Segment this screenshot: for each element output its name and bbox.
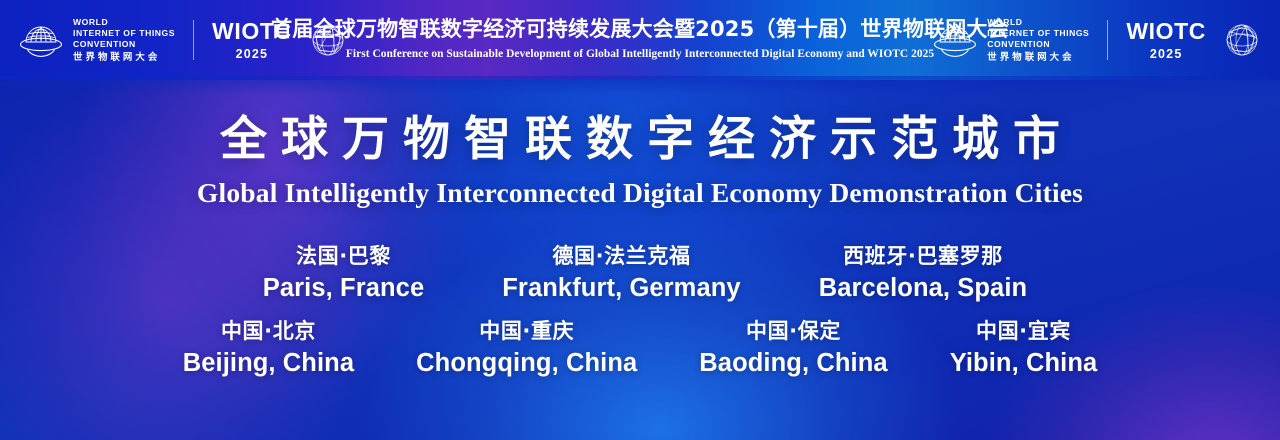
city-item: 中国·宜宾 Yibin, China [950, 318, 1098, 379]
city-name-english: Baoding, China [699, 348, 887, 379]
wordmark-left: WORLD INTERNET OF THINGS CONVENTION 世界物联… [73, 18, 175, 61]
wordmark-line-2: INTERNET OF THINGS [987, 29, 1089, 38]
wordmark-line-2: INTERNET OF THINGS [73, 29, 175, 38]
wordmark-right: WORLD INTERNET OF THINGS CONVENTION 世界物联… [987, 18, 1089, 61]
city-name-chinese: 法国·巴黎 [263, 243, 424, 269]
wordmark-line-3: CONVENTION [987, 40, 1089, 49]
city-item: 德国·法兰克福 Frankfurt, Germany [502, 243, 740, 304]
headline-chinese: 全球万物智联数字经济示范城市 [0, 112, 1280, 168]
city-item: 法国·巴黎 Paris, France [263, 243, 424, 304]
city-name-chinese: 中国·北京 [183, 318, 354, 344]
city-row-china: 中国·北京 Beijing, China 中国·重庆 Chongqing, Ch… [0, 318, 1280, 379]
wordmark-line-1: WORLD [987, 18, 1089, 27]
wordmark-line-3: CONVENTION [73, 40, 175, 49]
wiotc-text: WIOTC [1126, 20, 1206, 43]
city-name-chinese: 中国·保定 [699, 318, 887, 344]
globe-emblem-icon [932, 18, 978, 62]
city-name-english: Paris, France [263, 273, 424, 304]
wiotc-lockup-right: WIOTC 2025 [1126, 20, 1206, 61]
logo-divider [193, 20, 194, 60]
city-name-chinese: 西班牙·巴塞罗那 [819, 243, 1028, 269]
city-name-chinese: 中国·宜宾 [950, 318, 1098, 344]
city-list: 法国·巴黎 Paris, France 德国·法兰克福 Frankfurt, G… [0, 243, 1280, 379]
city-item: 中国·保定 Baoding, China [699, 318, 887, 379]
banner-headline-block: 首届全球万物智联数字经济可持续发展大会暨2025（第十届）世界物联网大会 Fir… [260, 16, 1020, 60]
wordmark-line-1: WORLD [73, 18, 175, 27]
main-headline-block: 全球万物智联数字经济示范城市 Global Intelligently Inte… [0, 112, 1280, 209]
city-name-english: Yibin, China [950, 348, 1098, 379]
banner-title-english: First Conference on Sustainable Developm… [260, 48, 1020, 60]
headline-english: Global Intelligently Interconnected Digi… [0, 177, 1280, 209]
banner-artwork: WORLD INTERNET OF THINGS CONVENTION 世界物联… [0, 0, 1280, 440]
logo-divider [1107, 20, 1108, 60]
wordmark-chinese: 世界物联网大会 [73, 52, 175, 61]
city-name-english: Chongqing, China [416, 348, 637, 379]
logo-lockup-right: WORLD INTERNET OF THINGS CONVENTION 世界物联… [932, 18, 1262, 62]
banner-title-chinese: 首届全球万物智联数字经济可持续发展大会暨2025（第十届）世界物联网大会 [260, 16, 1020, 42]
city-item: 西班牙·巴塞罗那 Barcelona, Spain [819, 243, 1028, 304]
globe-emblem-icon [18, 18, 64, 62]
city-name-chinese: 德国·法兰克福 [502, 243, 740, 269]
city-row-international: 法国·巴黎 Paris, France 德国·法兰克福 Frankfurt, G… [0, 243, 1280, 304]
city-name-chinese: 中国·重庆 [416, 318, 637, 344]
city-name-english: Barcelona, Spain [819, 273, 1028, 304]
header-strip: WORLD INTERNET OF THINGS CONVENTION 世界物联… [0, 0, 1280, 80]
city-item: 中国·重庆 Chongqing, China [416, 318, 637, 379]
city-name-english: Beijing, China [183, 348, 354, 379]
wiotc-year: 2025 [1150, 47, 1183, 61]
city-item: 中国·北京 Beijing, China [183, 318, 354, 379]
mesh-sphere-icon [1222, 20, 1262, 60]
city-name-english: Frankfurt, Germany [502, 273, 740, 304]
wordmark-chinese: 世界物联网大会 [987, 52, 1089, 61]
